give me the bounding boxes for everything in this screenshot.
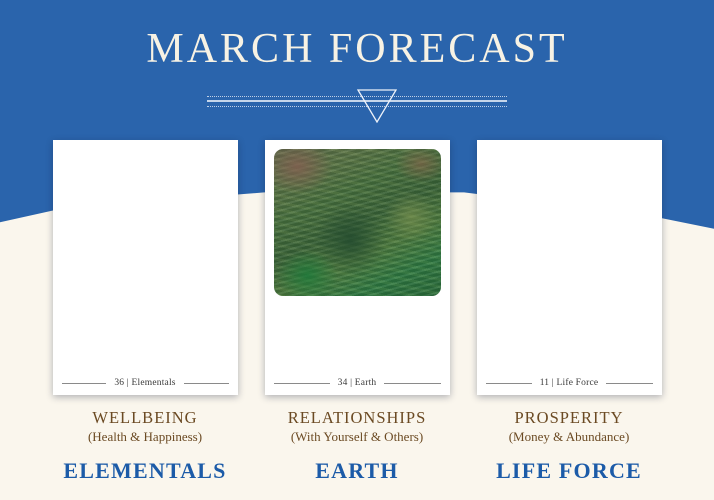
oracle-card[interactable]: 36 | Elementals — [53, 140, 238, 395]
card-column-wellbeing: 36 | Elementals — [49, 140, 242, 395]
card-caption: 34 | Earth — [274, 378, 441, 388]
oracle-card[interactable]: 34 | Earth — [265, 140, 450, 395]
caption-text: 34 | Earth — [338, 378, 377, 388]
card-artwork-earth — [274, 149, 441, 296]
card-caption: 11 | Life Force — [486, 378, 653, 388]
card-column-prosperity: 11 | Life Force — [473, 140, 666, 395]
label-row: WELLBEING (Health & Happiness) ELEMENTAL… — [0, 408, 714, 484]
caption-rule-left — [274, 383, 330, 384]
caption-rule-left — [486, 383, 532, 384]
caption-rule-right — [184, 383, 229, 384]
theme-label: WELLBEING — [49, 408, 242, 428]
theme-sublabel: (Health & Happiness) — [49, 428, 242, 446]
theme-label: RELATIONSHIPS — [261, 408, 454, 428]
card-caption: 36 | Elementals — [62, 378, 229, 388]
caption-rule-right — [606, 383, 652, 384]
card-name-label: EARTH — [261, 459, 454, 483]
forecast-poster: MARCH FORECAST 36 | Elementals — [0, 0, 714, 500]
poster-header: MARCH FORECAST — [0, 0, 714, 130]
theme-sublabel: (Money & Abundance) — [473, 428, 666, 446]
card-row: 36 | Elementals 34 | Earth — [0, 140, 714, 395]
label-column-wellbeing: WELLBEING (Health & Happiness) ELEMENTAL… — [49, 408, 242, 484]
caption-text: 36 | Elementals — [114, 378, 175, 388]
card-name-label: ELEMENTALS — [49, 459, 242, 483]
page-title: MARCH FORECAST — [0, 0, 714, 70]
label-column-relationships: RELATIONSHIPS (With Yourself & Others) E… — [261, 408, 454, 484]
decorative-divider — [207, 88, 507, 122]
card-artwork-elementals — [62, 149, 229, 357]
theme-sublabel: (With Yourself & Others) — [261, 428, 454, 446]
card-name-label: LIFE FORCE — [473, 459, 666, 483]
caption-rule-left — [62, 383, 107, 384]
label-column-prosperity: PROSPERITY (Money & Abundance) LIFE FORC… — [473, 408, 666, 484]
theme-label: PROSPERITY — [473, 408, 666, 428]
caption-text: 11 | Life Force — [540, 378, 599, 388]
oracle-card[interactable]: 11 | Life Force — [477, 140, 662, 395]
card-artwork-life-force — [486, 149, 653, 357]
card-column-relationships: 34 | Earth — [261, 140, 454, 395]
caption-rule-right — [384, 383, 440, 384]
